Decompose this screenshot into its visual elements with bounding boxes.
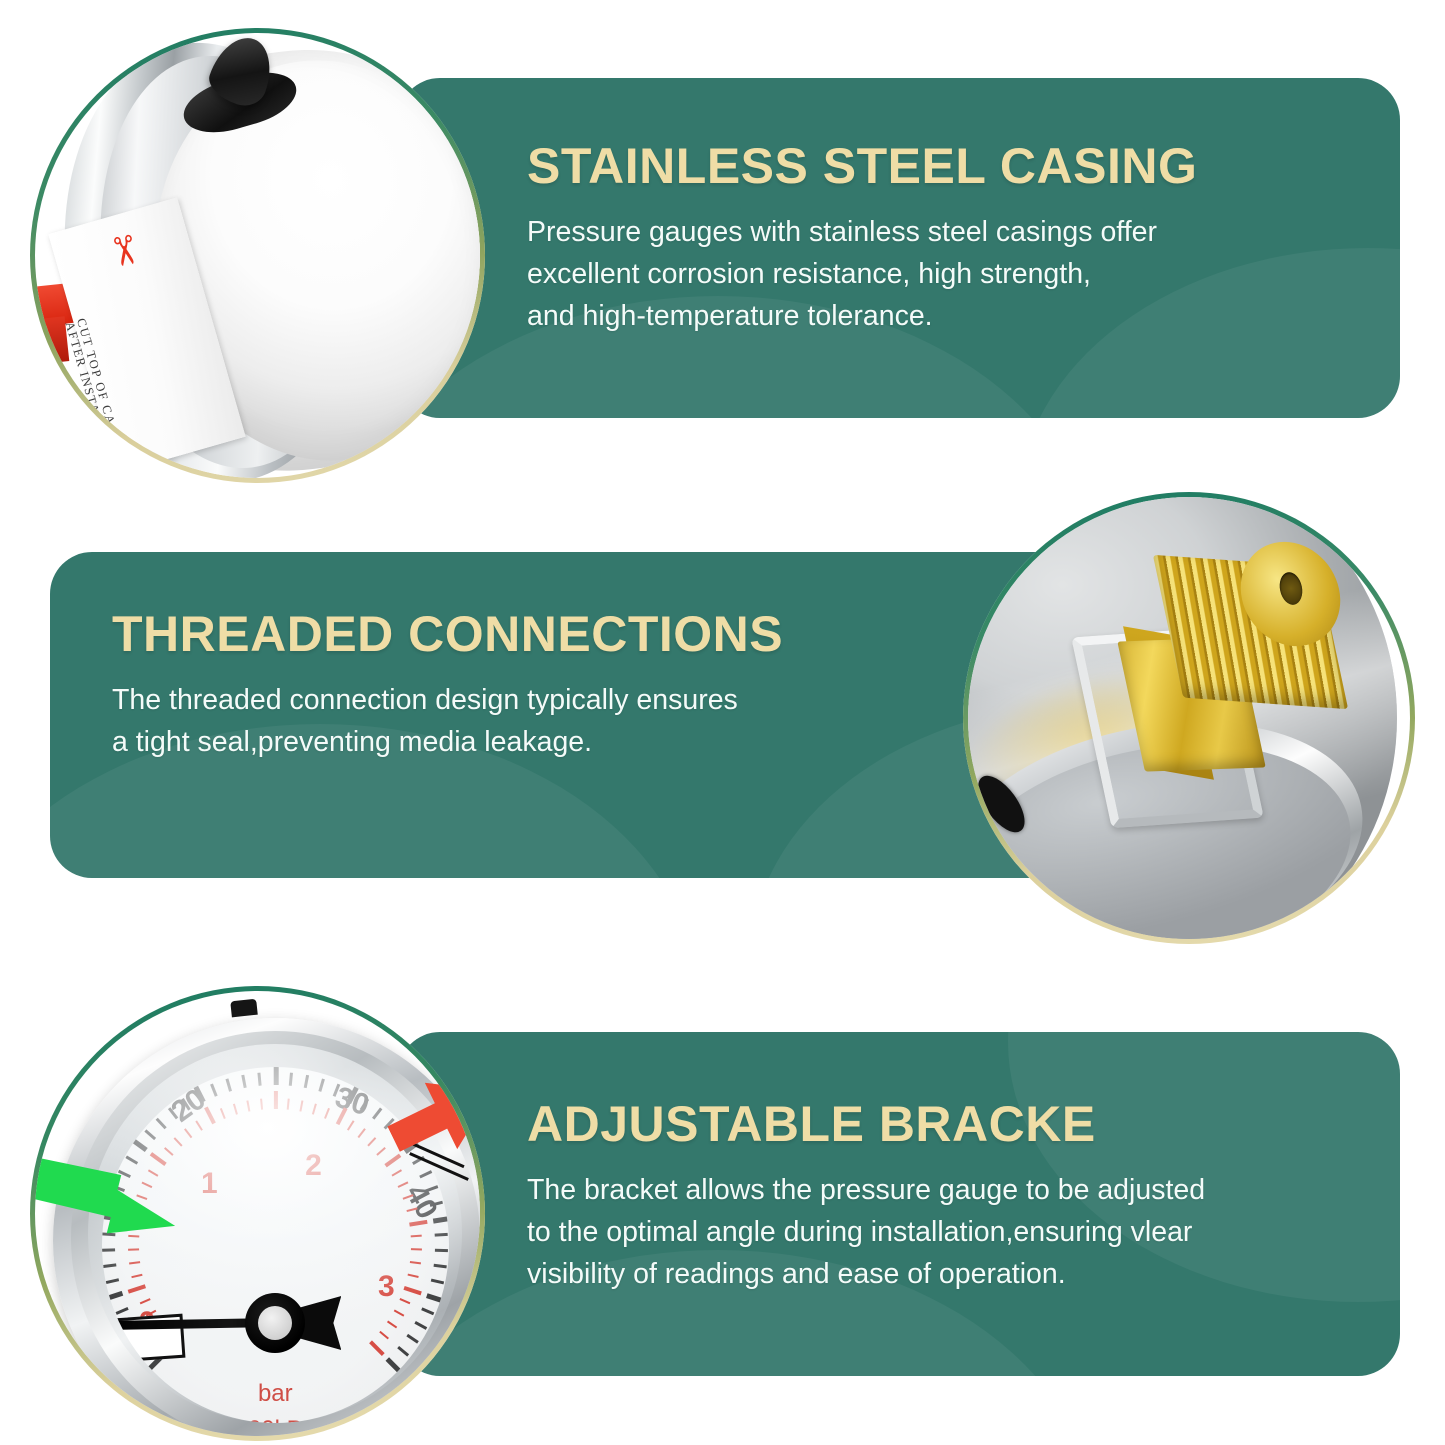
feature-text-threaded-connections: THREADED CONNECTIONS The threaded connec… (112, 608, 912, 764)
needle-hub-center (258, 1306, 292, 1340)
feature-title: THREADED CONNECTIONS (112, 608, 912, 660)
image-clip: ✂ AFTER INSTALLA CUT TOP OF CA (35, 33, 480, 478)
gauge-top-nub (230, 999, 258, 1018)
feature-image-threaded-connections (963, 492, 1415, 944)
needle-hub (245, 1293, 305, 1353)
image-clip (968, 497, 1410, 939)
feature-title: STAINLESS STEEL CASING (527, 140, 1327, 192)
feature-body: The threaded connection design typically… (112, 680, 912, 764)
feature-image-stainless-steel-casing: ✂ AFTER INSTALLA CUT TOP OF CA (30, 28, 485, 483)
gauge-glass-reflection (88, 1044, 462, 1422)
infographic-canvas: STAINLESS STEEL CASING Pressure gauges w… (0, 0, 1445, 1445)
feature-text-stainless-steel-casing: STAINLESS STEEL CASING Pressure gauges w… (527, 140, 1327, 338)
feature-image-adjustable-bracke: 20 30 40 0 1 2 3 bar 100kPa (30, 986, 485, 1441)
image-clip: 20 30 40 0 1 2 3 bar 100kPa (35, 991, 480, 1436)
feature-text-adjustable-bracke: ADJUSTABLE BRACKE The bracket allows the… (527, 1098, 1357, 1296)
feature-title: ADJUSTABLE BRACKE (527, 1098, 1357, 1150)
scissors-icon: ✂ (100, 231, 146, 272)
feature-body: The bracket allows the pressure gauge to… (527, 1170, 1357, 1296)
feature-body: Pressure gauges with stainless steel cas… (527, 212, 1327, 338)
